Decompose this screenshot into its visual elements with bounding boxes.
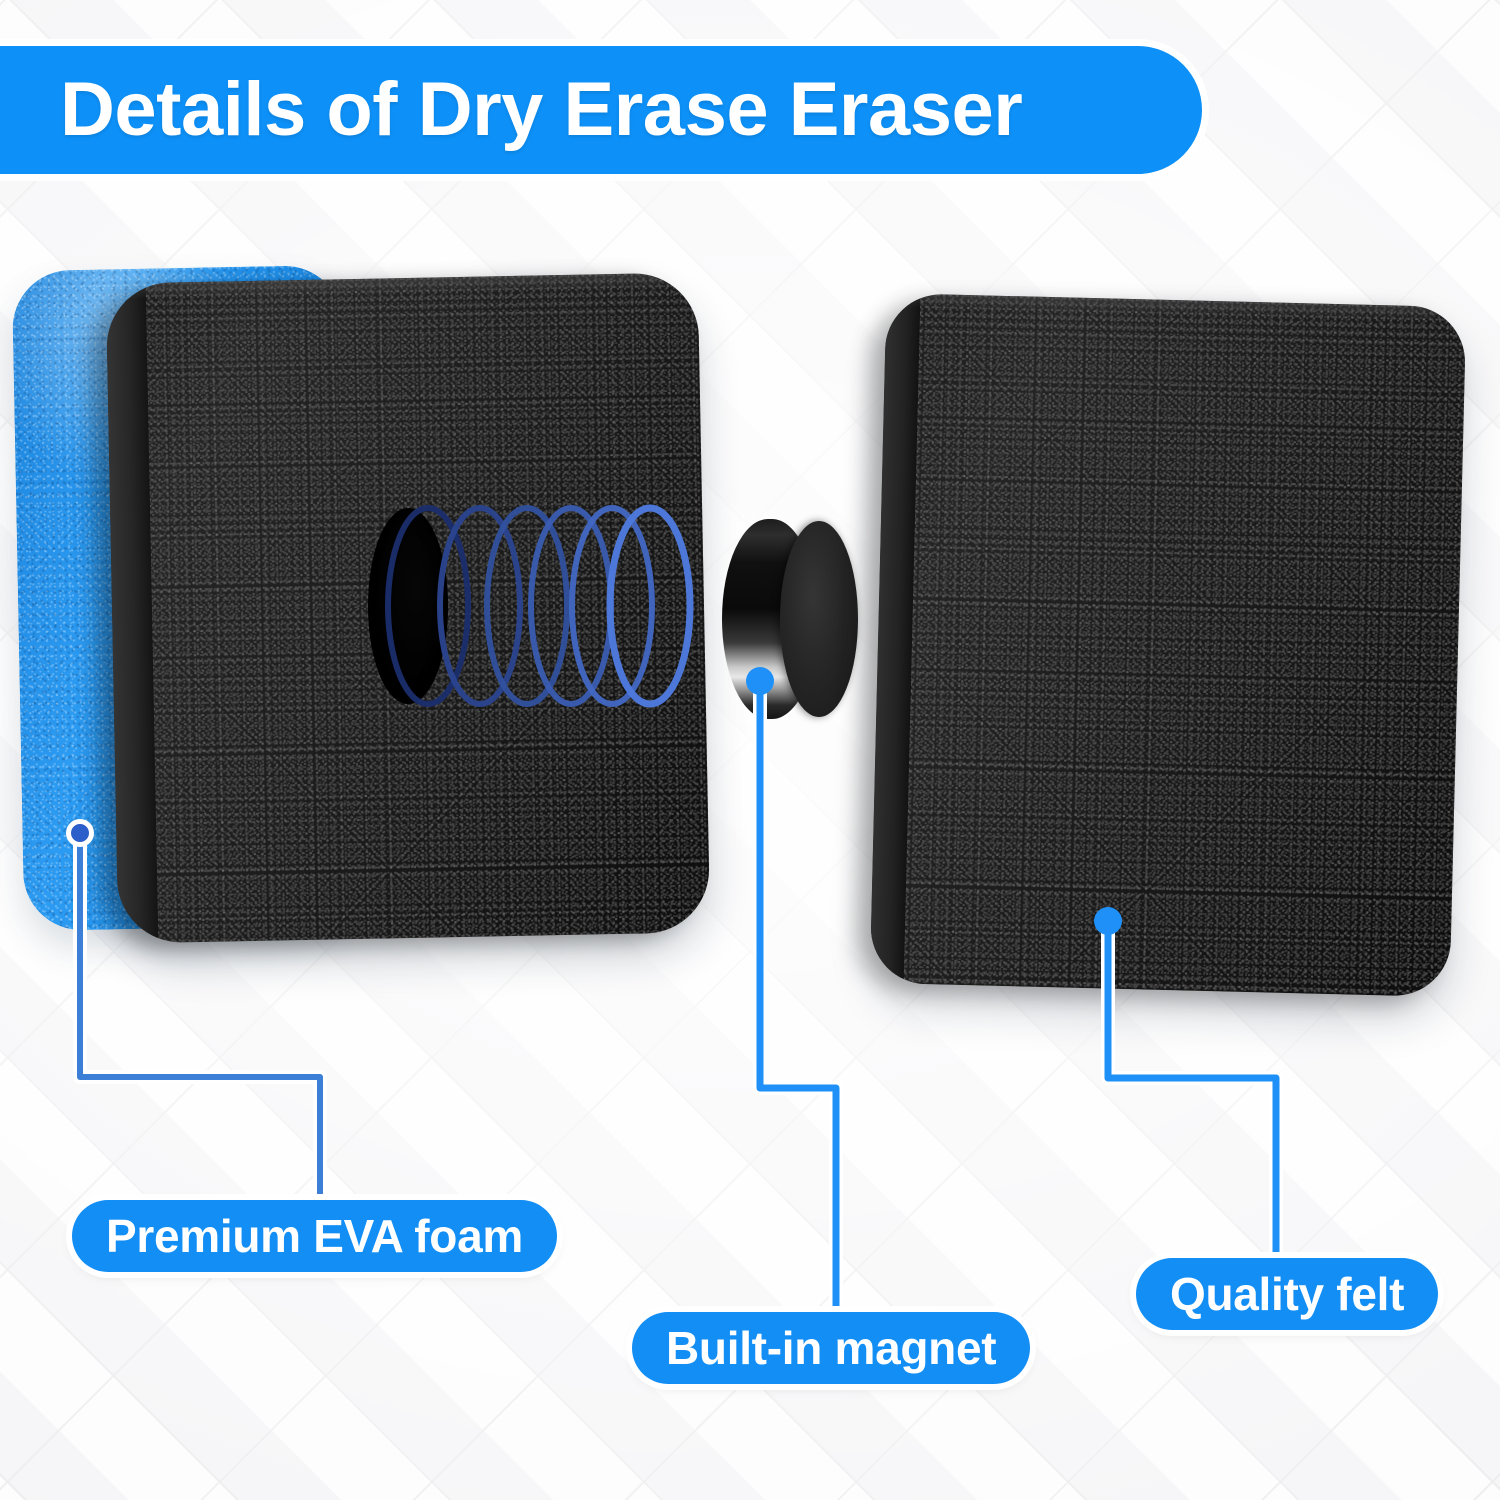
felt-texture-right: [870, 293, 1467, 997]
right-eraser-felt: [870, 293, 1467, 997]
callout-label-eva-foam[interactable]: Premium EVA foam: [72, 1200, 557, 1272]
callout-marker-felt[interactable]: [1094, 907, 1122, 935]
callout-label-quality-felt[interactable]: Quality felt: [1136, 1258, 1438, 1330]
page-title: Details of Dry Erase Eraser: [60, 72, 1022, 148]
magnet-cavity: [368, 508, 448, 704]
built-in-magnet-disc: [722, 519, 858, 719]
callout-label-text: Built-in magnet: [666, 1325, 996, 1371]
callout-marker-eva-foam[interactable]: [66, 819, 94, 847]
callout-label-text: Quality felt: [1170, 1271, 1404, 1317]
callout-label-text: Premium EVA foam: [106, 1213, 523, 1259]
callout-label-magnet[interactable]: Built-in magnet: [632, 1312, 1030, 1384]
product-infographic: Details of Dry Erase Eraser: [0, 0, 1500, 1500]
header-banner: Details of Dry Erase Eraser: [0, 46, 1202, 174]
callout-marker-magnet[interactable]: [746, 667, 774, 695]
magnet-front-face: [780, 521, 858, 717]
